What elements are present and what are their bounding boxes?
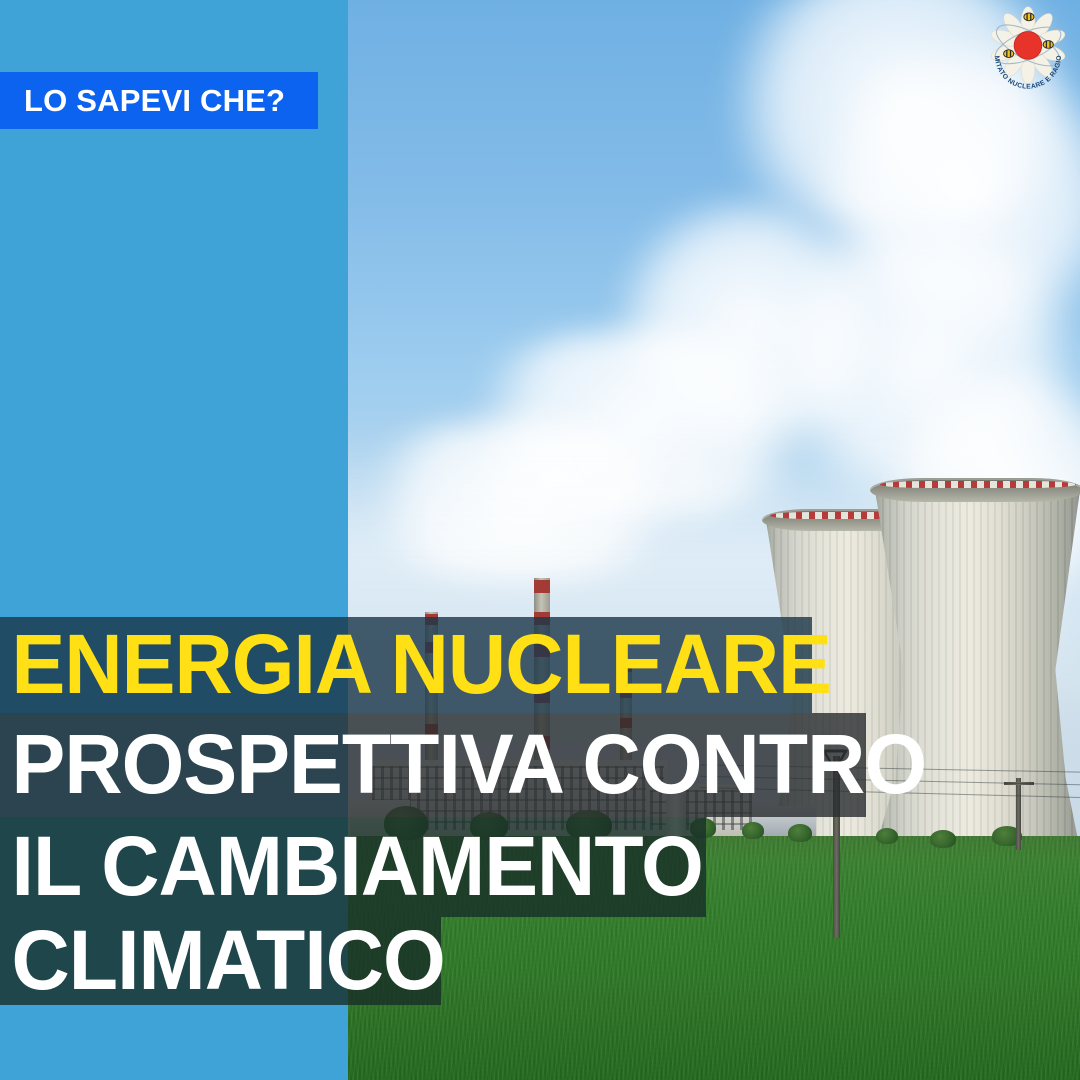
- did-you-know-badge: LO SAPEVI CHE?: [0, 72, 318, 129]
- bee-icon-top: [1024, 13, 1034, 21]
- headline-line-3: IL CAMBIAMENTO: [0, 830, 703, 904]
- bee-icon-left: [1004, 50, 1014, 58]
- cooling-tower-right-rim-lights: [880, 481, 1076, 488]
- bush: [930, 830, 956, 848]
- utility-pole-far: [1016, 778, 1021, 850]
- bee-icon-right: [1043, 41, 1053, 49]
- poster-root: LO SAPEVI CHE?: [0, 0, 1080, 1080]
- did-you-know-badge-label: LO SAPEVI CHE?: [0, 83, 285, 119]
- headline-band-1: ENERGIA NUCLEARE: [0, 617, 812, 713]
- headline-band-2: PROSPETTIVA CONTRO: [0, 713, 866, 817]
- headline-line-4: CLIMATICO: [0, 924, 445, 998]
- headline-band-3: IL CAMBIAMENTO: [0, 817, 706, 917]
- bush: [788, 824, 812, 842]
- comitato-nucleare-e-ragione-logo[interactable]: COMITATO NUCLEARE E RAGIONE: [982, 4, 1074, 96]
- headline-band-4: CLIMATICO: [0, 917, 441, 1005]
- headline-line-2: PROSPETTIVA CONTRO: [0, 728, 926, 802]
- bush: [742, 822, 764, 839]
- daisy-flower-icon: COMITATO NUCLEARE E RAGIONE: [982, 4, 1074, 96]
- headline-line-1: ENERGIA NUCLEARE: [0, 628, 831, 702]
- bush: [876, 828, 898, 844]
